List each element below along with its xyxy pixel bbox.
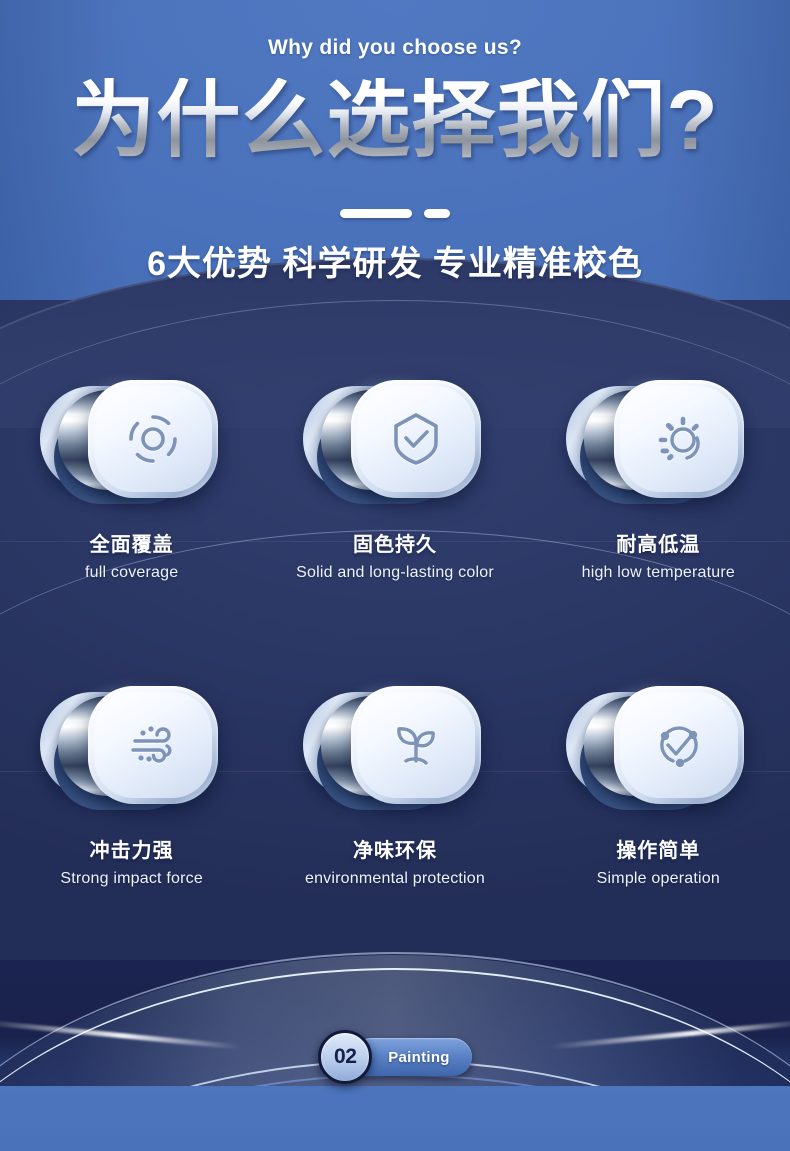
circle-check-nodes-icon (647, 713, 711, 777)
feature-subtitle: full coverage (85, 564, 178, 582)
sun-temperature-icon (647, 407, 711, 471)
badge-face (614, 686, 744, 804)
shield-check-icon (384, 407, 448, 471)
sprout-leaf-icon (384, 713, 448, 777)
badge-face (614, 380, 744, 498)
feature-title: 净味环保 (353, 834, 437, 863)
feature-subtitle: Simple operation (597, 870, 720, 888)
divider-dashes (0, 205, 790, 223)
feature-badge (295, 674, 495, 824)
feature-card-long-lasting-color[interactable]: 固色持久 Solid and long-lasting color (263, 368, 526, 582)
feature-card-simple-operation[interactable]: 操作简单 Simple operation (527, 674, 790, 888)
feature-title: 全面覆盖 (90, 528, 174, 557)
badge-face (88, 686, 218, 804)
target-rings-icon (121, 407, 185, 471)
badge-face (88, 380, 218, 498)
dash-short (424, 209, 450, 218)
badge-face (351, 380, 481, 498)
badge-face (351, 686, 481, 804)
page-number-badge: 02 Painting (0, 1030, 790, 1084)
subtitle-text: 6大优势 科学研发 专业精准校色 (0, 236, 790, 285)
feature-badge (295, 368, 495, 518)
eyebrow-text: Why did you choose us? (0, 36, 790, 60)
feature-subtitle: environmental protection (305, 870, 485, 888)
feature-card-full-coverage[interactable]: 全面覆盖 full coverage (0, 368, 263, 582)
feature-card-high-low-temperature[interactable]: 耐高低温 high low temperature (527, 368, 790, 582)
bottom-base (0, 1086, 790, 1151)
dash-long (340, 209, 412, 218)
page-title: 为什么选择我们? (0, 78, 790, 162)
feature-badge (32, 368, 232, 518)
feature-title: 固色持久 (353, 528, 437, 557)
feature-badge (32, 674, 232, 824)
feature-card-environmental-protection[interactable]: 净味环保 environmental protection (263, 674, 526, 888)
promo-page: Why did you choose us? 为什么选择我们? 6大优势 科学研… (0, 0, 790, 1151)
wind-impact-icon (121, 713, 185, 777)
feature-title: 耐高低温 (616, 528, 700, 557)
feature-subtitle: Strong impact force (60, 870, 203, 888)
feature-title: 操作简单 (616, 834, 700, 863)
page-number: 02 (318, 1030, 372, 1084)
feature-row-1: 全面覆盖 full coverage (0, 368, 790, 582)
feature-badge (558, 674, 758, 824)
feature-row-2: 冲击力强 Strong impact force (0, 674, 790, 888)
feature-subtitle: Solid and long-lasting color (296, 564, 494, 582)
feature-subtitle: high low temperature (582, 564, 735, 582)
feature-card-strong-impact-force[interactable]: 冲击力强 Strong impact force (0, 674, 263, 888)
feature-title: 冲击力强 (90, 834, 174, 863)
feature-badge (558, 368, 758, 518)
